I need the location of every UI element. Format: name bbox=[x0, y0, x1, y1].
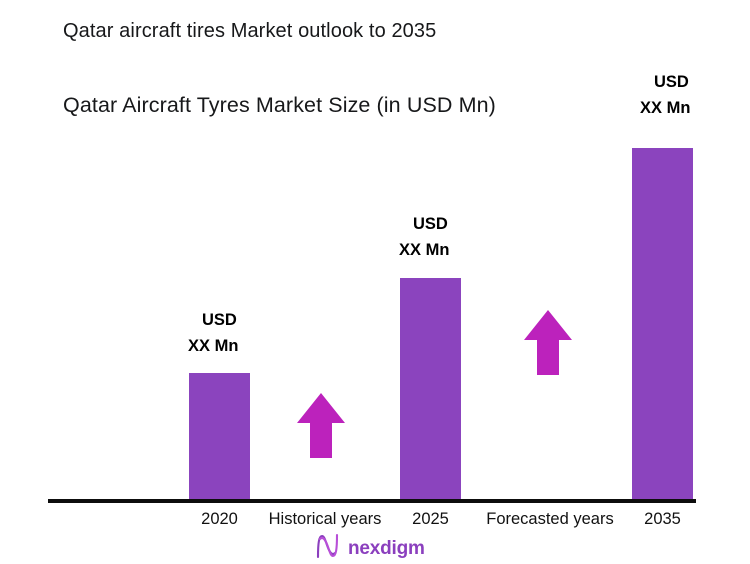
bar-value-label-2020: USD XX Mn bbox=[188, 308, 238, 359]
brand-logo[interactable]: nexdigm bbox=[315, 533, 425, 564]
x-axis-period-label-forecasted: Forecasted years bbox=[474, 510, 626, 529]
brand-name: nexdigm bbox=[348, 539, 425, 558]
bar-value-label-2025-line2: XX Mn bbox=[399, 238, 449, 264]
x-axis-line bbox=[48, 499, 696, 503]
x-axis-tick-label-2035: 2035 bbox=[632, 510, 693, 529]
bar-value-label-2035: USD XX Mn bbox=[640, 70, 690, 121]
x-axis-tick-label-2025: 2025 bbox=[400, 510, 461, 529]
nexdigm-n-wave-icon bbox=[315, 533, 343, 564]
up-arrow-icon-historical bbox=[296, 392, 346, 460]
bar-value-label-2020-line1: USD bbox=[188, 308, 238, 334]
up-arrow-icon-forecasted bbox=[523, 309, 573, 377]
page-title: Qatar aircraft tires Market outlook to 2… bbox=[63, 20, 436, 43]
x-axis-tick-label-2020: 2020 bbox=[189, 510, 250, 529]
bar-value-label-2025: USD XX Mn bbox=[399, 212, 449, 263]
bar-value-label-2025-line1: USD bbox=[399, 212, 449, 238]
bar-2035[interactable] bbox=[632, 148, 693, 501]
bar-2025[interactable] bbox=[400, 278, 461, 501]
chart-canvas: Qatar aircraft tires Market outlook to 2… bbox=[0, 0, 750, 562]
bar-value-label-2035-line2: XX Mn bbox=[640, 96, 690, 122]
chart-title: Qatar Aircraft Tyres Market Size (in USD… bbox=[63, 93, 496, 118]
bar-value-label-2035-line1: USD bbox=[640, 70, 690, 96]
bar-2020[interactable] bbox=[189, 373, 250, 501]
bar-value-label-2020-line2: XX Mn bbox=[188, 334, 238, 360]
x-axis-period-label-historical: Historical years bbox=[256, 510, 394, 529]
